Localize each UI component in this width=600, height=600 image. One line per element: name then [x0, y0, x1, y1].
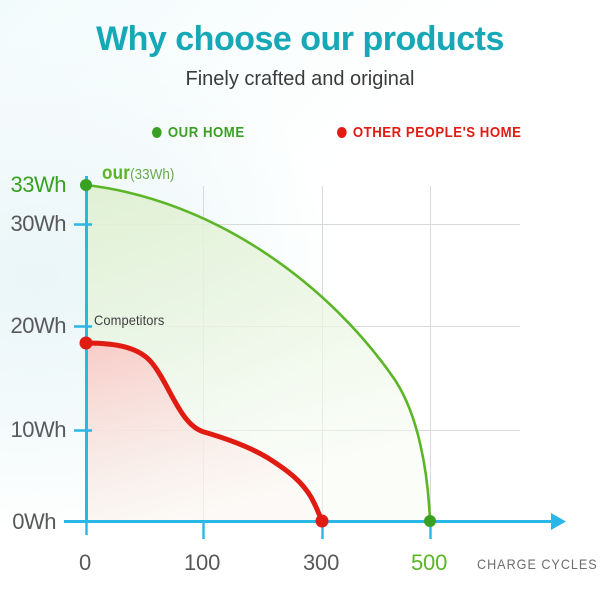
annotation-competitors: Competitors	[94, 313, 164, 327]
x-tick-label-300: 300	[303, 552, 339, 574]
y-tick-label-30wh: 30Wh	[0, 213, 66, 235]
x-tick-label-0: 0	[79, 552, 91, 574]
x-tick-label-500: 500	[411, 552, 447, 574]
data-point-our-end[interactable]	[424, 515, 436, 527]
x-tick-label-100: 100	[184, 552, 220, 574]
infographic-poster: Why choose our products Finely crafted a…	[0, 0, 600, 600]
x-axis-title: CHARGE CYCLES	[477, 557, 598, 571]
data-point-our-start[interactable]	[80, 179, 92, 191]
data-point-other-start[interactable]	[80, 337, 93, 350]
annotation-our-value: (33Wh)	[130, 166, 174, 183]
data-point-other-end[interactable]	[316, 515, 329, 528]
chart-svg	[0, 0, 600, 600]
y-tick-label-33wh: 33Wh	[0, 174, 66, 196]
annotation-our: our(33Wh)	[102, 164, 174, 183]
y-tick-label-20wh: 20Wh	[0, 315, 66, 337]
chart-canvas: 33Wh 30Wh 20Wh 10Wh 0Wh 0 100 300 500 CH…	[0, 0, 600, 600]
y-tick-label-10wh: 10Wh	[0, 419, 66, 441]
y-tick-label-0wh: 0Wh	[0, 511, 56, 533]
annotation-our-label: our	[102, 163, 130, 184]
